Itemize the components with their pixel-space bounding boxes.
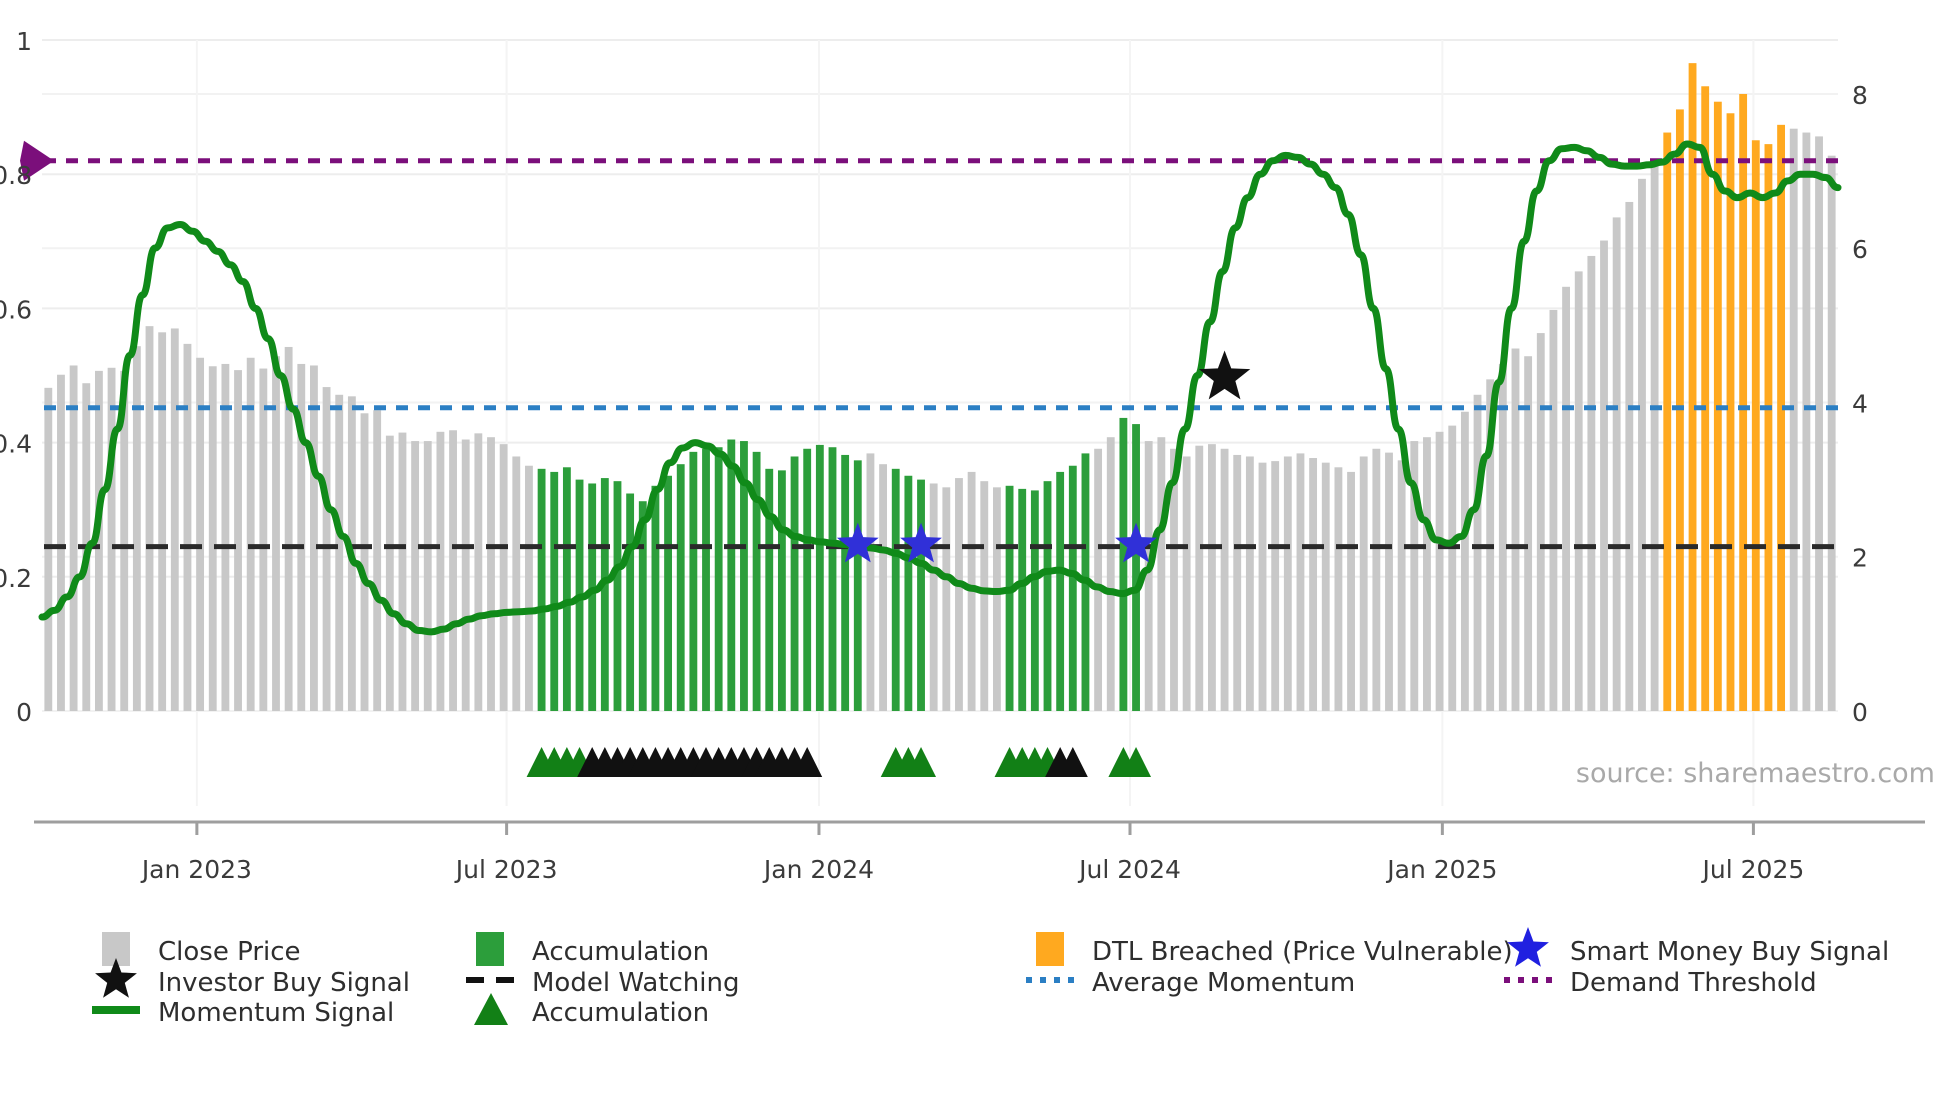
legend-item-label: Accumulation — [532, 937, 709, 967]
bar-accumulation — [1044, 481, 1052, 711]
legend-item-label: Smart Money Buy Signal — [1570, 937, 1889, 967]
y-axis-left-tick-label: 0.2 — [0, 564, 32, 593]
legend-item-label: Momentum Signal — [158, 998, 394, 1028]
bar-dtl-breached — [1739, 94, 1747, 711]
legend-item-label: Model Watching — [532, 968, 739, 998]
bar-accumulation — [727, 440, 735, 711]
bar-accumulation — [791, 456, 799, 711]
bar-close-price — [184, 344, 192, 711]
bar-close-price — [449, 430, 457, 711]
bar-accumulation — [538, 469, 546, 711]
bar-close-price — [1587, 256, 1595, 711]
bar-close-price — [1550, 310, 1558, 711]
bar-close-price — [146, 326, 154, 711]
y-axis-right-tick-label: 4 — [1852, 389, 1868, 418]
bar-accumulation — [677, 464, 685, 711]
bar-accumulation — [854, 460, 862, 711]
bar-close-price — [259, 369, 267, 711]
bar-close-price — [1259, 463, 1267, 711]
bar-close-price — [108, 368, 116, 711]
bar-close-price — [1790, 129, 1798, 711]
x-axis-tick-label: Jul 2024 — [1077, 855, 1181, 884]
bar-close-price — [942, 487, 950, 711]
bar-close-price — [879, 464, 887, 711]
bar-accumulation — [829, 447, 837, 711]
bar-close-price — [1638, 179, 1646, 711]
bar-close-price — [525, 466, 533, 711]
bar-close-price — [1398, 460, 1406, 711]
bar-accumulation — [1056, 472, 1064, 711]
bar-close-price — [1600, 241, 1608, 711]
legend-item[interactable]: DTL Breached (Price Vulnerable) — [1036, 932, 1513, 967]
x-axis-tick-label: Jan 2023 — [140, 855, 252, 884]
bar-close-price — [44, 388, 52, 711]
legend-item-label: Demand Threshold — [1570, 968, 1817, 998]
bar-accumulation — [778, 470, 786, 711]
bar-close-price — [1107, 437, 1115, 711]
bar-close-price — [1271, 461, 1279, 711]
bar-accumulation — [1132, 424, 1140, 711]
bar-close-price — [1499, 364, 1507, 711]
legend-item-label: Investor Buy Signal — [158, 968, 410, 998]
bar-close-price — [1828, 156, 1836, 711]
bar-close-price — [1233, 455, 1241, 711]
bar-close-price — [867, 453, 875, 711]
bar-close-price — [1423, 437, 1431, 711]
x-axis-tick-label: Jan 2024 — [762, 855, 874, 884]
bar-accumulation — [614, 481, 622, 711]
bar-close-price — [1436, 432, 1444, 711]
bar-accumulation — [664, 476, 672, 711]
bar-dtl-breached — [1752, 140, 1760, 711]
bar-close-price — [399, 433, 407, 711]
bar-close-price — [310, 365, 318, 711]
bar-close-price — [158, 332, 166, 711]
bar-close-price — [386, 436, 394, 711]
legend-item-label: Close Price — [158, 937, 301, 967]
bar-dtl-breached — [1663, 133, 1671, 711]
bar-close-price — [1625, 202, 1633, 711]
x-axis-tick-label: Jan 2025 — [1385, 855, 1497, 884]
y-axis-left-tick-label: 0.4 — [0, 430, 32, 459]
bar-close-price — [512, 456, 520, 711]
bar-close-price — [1322, 463, 1330, 711]
bar-close-price — [980, 481, 988, 711]
bar-close-price — [221, 364, 229, 711]
y-axis-right-tick-label: 0 — [1852, 698, 1868, 727]
bar-accumulation — [892, 469, 900, 711]
bar-close-price — [500, 444, 508, 711]
bar-close-price — [1183, 456, 1191, 711]
bar-close-price — [1246, 456, 1254, 711]
bar-accumulation — [702, 449, 710, 711]
y-axis-left-tick-label: 0 — [16, 698, 32, 727]
source-attribution: source: sharemaestro.com — [1576, 758, 1935, 789]
bar-accumulation — [841, 455, 849, 711]
bar-close-price — [70, 365, 78, 711]
bar-accumulation — [715, 447, 723, 711]
bar-accumulation — [1018, 489, 1026, 711]
bar-close-price — [1309, 458, 1317, 711]
bar-accumulation — [550, 472, 558, 711]
bar-close-price — [1562, 287, 1570, 711]
y-axis-right-tick-label: 8 — [1852, 81, 1868, 110]
x-axis-tick-label: Jul 2023 — [454, 855, 558, 884]
bar-accumulation — [917, 480, 925, 711]
bar-close-price — [1802, 133, 1810, 711]
bar-close-price — [1297, 453, 1305, 711]
bar-close-price — [1334, 467, 1342, 711]
bar-accumulation — [816, 445, 824, 711]
bar-close-price — [1651, 163, 1659, 711]
bar-close-price — [1448, 426, 1456, 711]
bar-close-price — [133, 346, 141, 711]
bar-accumulation — [1006, 486, 1014, 711]
bar-close-price — [1815, 136, 1823, 711]
bar-accumulation — [652, 486, 660, 711]
bar-close-price — [373, 410, 381, 711]
bar-close-price — [1221, 449, 1229, 711]
bar-close-price — [1474, 395, 1482, 711]
square-swatch-icon — [476, 932, 504, 966]
bar-close-price — [247, 358, 255, 711]
bar-close-price — [1195, 446, 1203, 711]
bar-dtl-breached — [1701, 86, 1709, 711]
bar-close-price — [1347, 472, 1355, 711]
bar-accumulation — [626, 494, 634, 711]
y-axis-right-tick-label: 2 — [1852, 544, 1868, 573]
bar-close-price — [1284, 456, 1292, 711]
bar-close-price — [171, 328, 179, 711]
bar-close-price — [1613, 217, 1621, 711]
bar-close-price — [474, 433, 482, 711]
financial-chart: 00.20.40.60.8102468Jan 2023Jul 2023Jan 2… — [0, 0, 1960, 1102]
bar-close-price — [436, 432, 444, 711]
bar-close-price — [462, 440, 470, 711]
bar-close-price — [57, 375, 65, 711]
bar-close-price — [487, 437, 495, 711]
bar-accumulation — [1069, 466, 1077, 711]
bar-close-price — [1575, 271, 1583, 711]
y-axis-right-tick-label: 6 — [1852, 235, 1868, 264]
bar-close-price — [411, 441, 419, 711]
legend-item-label: Accumulation — [532, 998, 709, 1028]
bar-dtl-breached — [1777, 125, 1785, 711]
bar-close-price — [1461, 412, 1469, 711]
bar-close-price — [1360, 456, 1368, 711]
y-axis-left-tick-label: 1 — [16, 27, 32, 56]
y-axis-left-tick-label: 0.6 — [0, 295, 32, 324]
bar-close-price — [1512, 349, 1520, 711]
bar-accumulation — [563, 467, 571, 711]
bar-close-price — [930, 483, 938, 711]
bar-close-price — [1372, 449, 1380, 711]
legend-item-label: DTL Breached (Price Vulnerable) — [1092, 937, 1513, 967]
y-axis-left-tick-label: 0.8 — [0, 161, 32, 190]
bar-close-price — [234, 370, 242, 711]
bar-close-price — [361, 413, 369, 711]
bar-close-price — [993, 487, 1001, 711]
square-swatch-icon — [1036, 932, 1064, 966]
bar-close-price — [1208, 444, 1216, 711]
bar-close-price — [1157, 437, 1165, 711]
bar-close-price — [1094, 449, 1102, 711]
bar-close-price — [335, 395, 343, 711]
bar-accumulation — [1031, 490, 1039, 711]
bar-accumulation — [1119, 418, 1127, 711]
bar-close-price — [424, 441, 432, 711]
bar-close-price — [955, 478, 963, 711]
bar-dtl-breached — [1765, 144, 1773, 711]
bar-dtl-breached — [1727, 113, 1735, 711]
bar-close-price — [196, 358, 204, 711]
bar-close-price — [1385, 453, 1393, 711]
bar-close-price — [1537, 333, 1545, 711]
bar-accumulation — [904, 476, 912, 711]
x-axis-tick-label: Jul 2025 — [1701, 855, 1805, 884]
bar-accumulation — [803, 449, 811, 711]
bar-close-price — [209, 366, 217, 711]
legend-item-label: Average Momentum — [1092, 968, 1355, 998]
bar-accumulation — [601, 478, 609, 711]
bar-accumulation — [689, 452, 697, 711]
chart-root: 00.20.40.60.8102468Jan 2023Jul 2023Jan 2… — [0, 0, 1960, 1102]
